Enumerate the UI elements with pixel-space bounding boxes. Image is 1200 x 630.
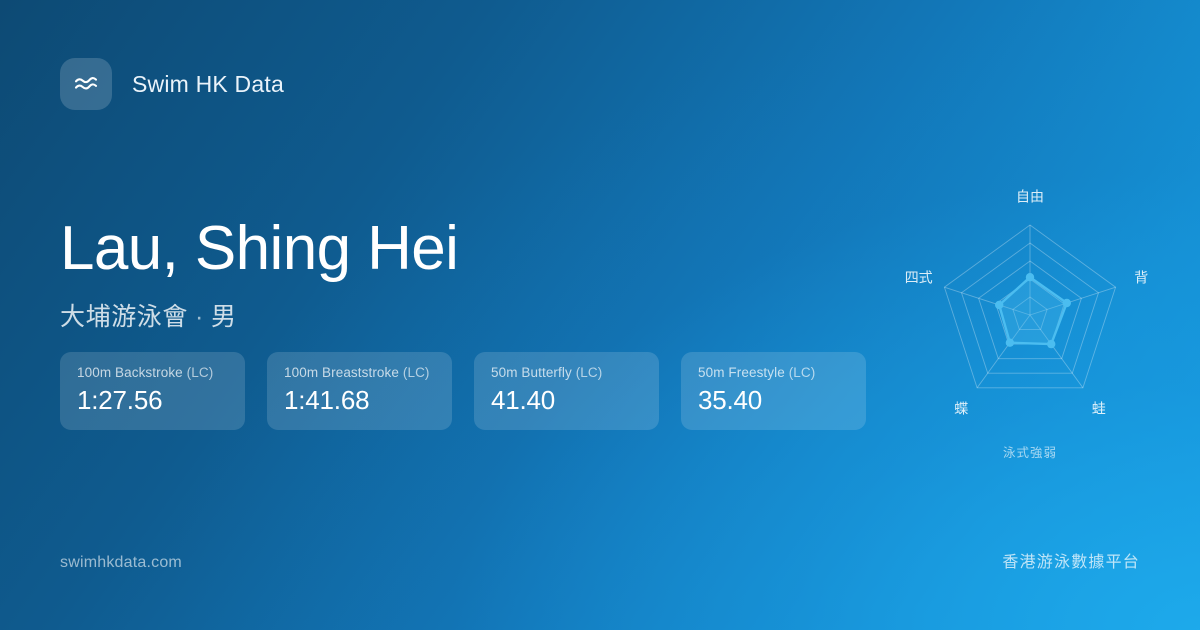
radar-axis-label: 自由 bbox=[1016, 189, 1044, 205]
stat-card-value: 35.40 bbox=[698, 385, 850, 416]
radar-point[interactable] bbox=[1047, 340, 1055, 348]
page-title: Lau, Shing Hei bbox=[60, 218, 458, 280]
stat-card-list: 100m Backstroke (LC) 1:27.56 100m Breast… bbox=[60, 352, 866, 430]
stat-card-value: 41.40 bbox=[491, 385, 643, 416]
stat-card-course: (LC) bbox=[576, 365, 603, 380]
hero-block: Lau, Shing Hei 大埔游泳會·男 bbox=[60, 218, 458, 333]
footer-site-url[interactable]: swimhkdata.com bbox=[60, 554, 182, 572]
stat-card-value: 1:27.56 bbox=[77, 385, 229, 416]
stat-card[interactable]: 50m Butterfly (LC) 41.40 bbox=[474, 352, 659, 430]
brand-header: Swim HK Data bbox=[60, 58, 284, 110]
stat-card[interactable]: 100m Backstroke (LC) 1:27.56 bbox=[60, 352, 245, 430]
radar-axis-label: 四式 bbox=[905, 270, 933, 286]
athlete-gender: 男 bbox=[211, 303, 237, 331]
radar-axis-label: 背 bbox=[1134, 270, 1148, 286]
stat-card-course: (LC) bbox=[187, 365, 214, 380]
athlete-meta: 大埔游泳會·男 bbox=[60, 297, 458, 333]
meta-separator: · bbox=[188, 303, 211, 331]
radar-chart: 自由背蛙蝶四式 bbox=[880, 170, 1180, 470]
radar-series-area bbox=[999, 277, 1067, 344]
stat-card[interactable]: 50m Freestyle (LC) 35.40 bbox=[681, 352, 866, 430]
stat-card-course: (LC) bbox=[789, 365, 816, 380]
stat-card-label: 50m Freestyle (LC) bbox=[698, 365, 850, 380]
radar-point[interactable] bbox=[1006, 339, 1014, 347]
radar-caption: 泳式強弱 bbox=[880, 442, 1180, 461]
stat-card-label: 100m Breaststroke (LC) bbox=[284, 365, 436, 380]
stat-card-value: 1:41.68 bbox=[284, 385, 436, 416]
radar-axis-label: 蛙 bbox=[1092, 400, 1106, 416]
stat-card-label: 50m Butterfly (LC) bbox=[491, 365, 643, 380]
stat-card-event: 100m Breaststroke bbox=[284, 365, 399, 380]
footer-tagline: 香港游泳數據平台 bbox=[1002, 548, 1140, 572]
stat-card-event: 100m Backstroke bbox=[77, 365, 183, 380]
stat-card-label: 100m Backstroke (LC) bbox=[77, 365, 229, 380]
wave-icon[interactable] bbox=[60, 58, 112, 110]
radar-point[interactable] bbox=[995, 301, 1003, 309]
stat-card-event: 50m Butterfly bbox=[491, 365, 572, 380]
stat-card-event: 50m Freestyle bbox=[698, 365, 785, 380]
stat-card-course: (LC) bbox=[403, 365, 430, 380]
radar-point[interactable] bbox=[1026, 273, 1034, 281]
stat-card[interactable]: 100m Breaststroke (LC) 1:41.68 bbox=[267, 352, 452, 430]
radar-axis-label: 蝶 bbox=[954, 400, 968, 416]
athlete-club: 大埔游泳會 bbox=[60, 303, 188, 331]
brand-name: Swim HK Data bbox=[132, 71, 284, 98]
radar-point[interactable] bbox=[1063, 299, 1071, 307]
